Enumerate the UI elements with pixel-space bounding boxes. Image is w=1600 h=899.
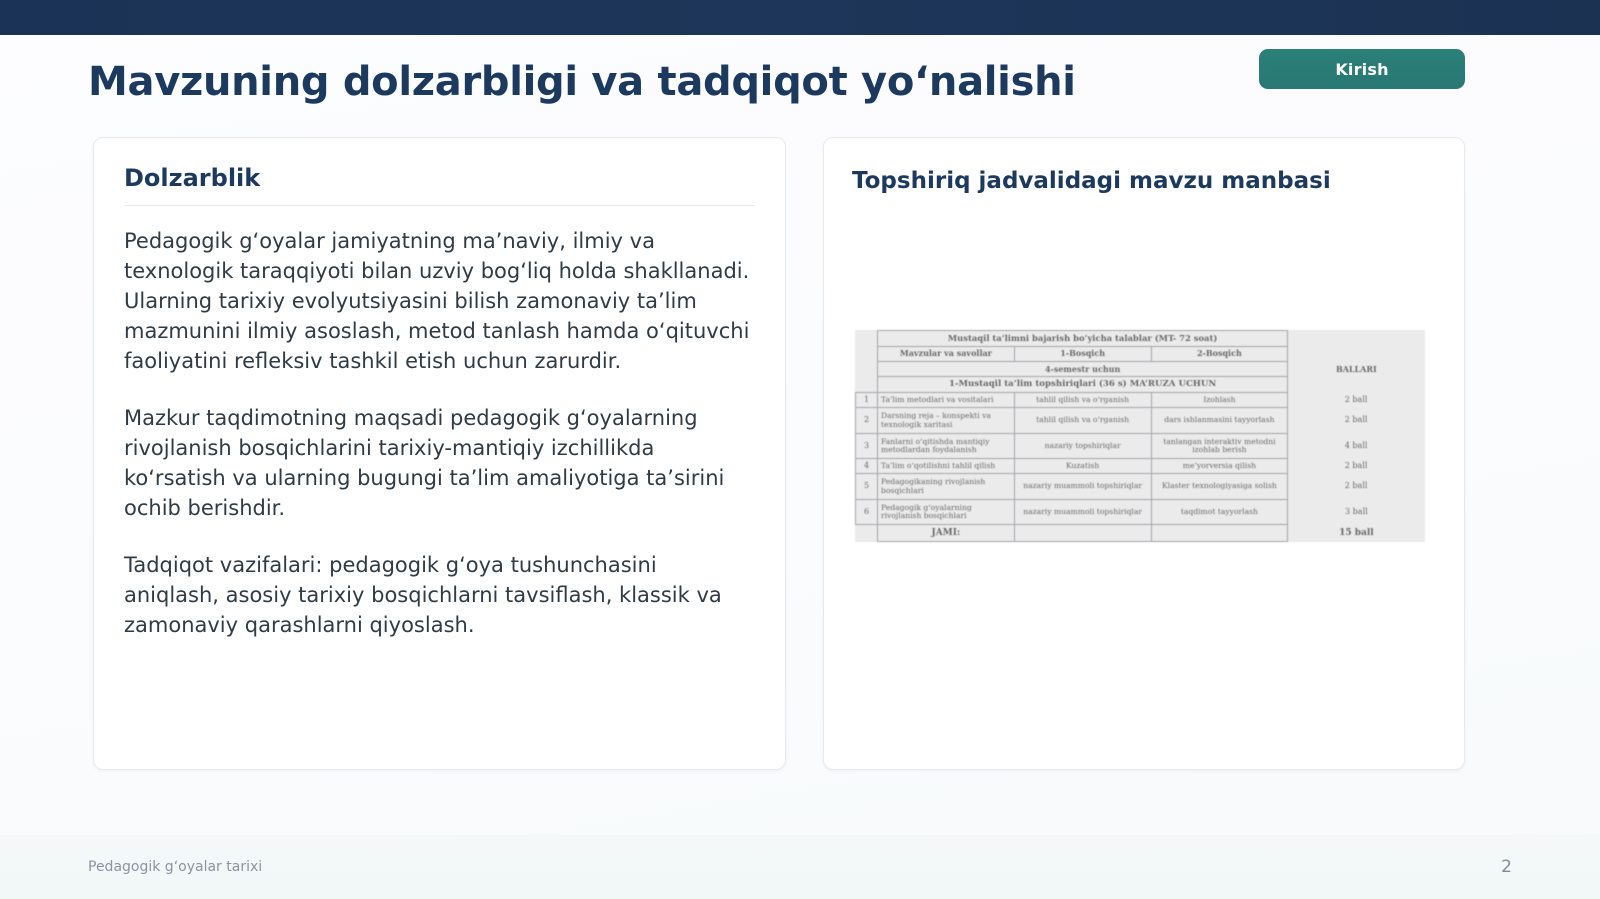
- card-left-title: Dolzarblik: [124, 164, 755, 206]
- table-row: 3 Fanlarni o‘qitishda mantiqiy metodlard…: [856, 433, 1425, 458]
- table-row: 1 Ta’lim metodlari va vositalari tahlil …: [856, 393, 1425, 408]
- row-topic: Pedagogikaning rivojlanish bosqichlari: [878, 474, 1015, 499]
- table-main-header: Mustaqil ta’limni bajarish bo‘yicha tala…: [878, 331, 1288, 347]
- table-row-main-header: Mustaqil ta’limni bajarish bo‘yicha tala…: [856, 331, 1425, 347]
- paragraph-2: Mazkur taqdimotning maqsadi pedagogik g‘…: [124, 403, 755, 523]
- row-topic: Darsning reja – konspekti va texnologik …: [878, 408, 1015, 433]
- row-stage2: Klaster texnologiyasiga solish: [1151, 474, 1288, 499]
- col-header-ball: BALLARI: [1288, 361, 1425, 376]
- table-row: 2 Darsning reja – konspekti va texnologi…: [856, 408, 1425, 433]
- table-row: 4 Ta’lim o‘qotilishni tahlil qilish Kuza…: [856, 459, 1425, 474]
- row-stage1: Kuzatish: [1014, 459, 1151, 474]
- row-ball: 2 ball: [1288, 393, 1425, 408]
- table-row-total: JAMI: 15 ball: [856, 525, 1425, 542]
- col-header-stage2: 2-Bosqich: [1151, 346, 1288, 361]
- col-header-stage1: 1-Bosqich: [1014, 346, 1151, 361]
- row-stage2: dars ishlanmasini tayyorlash: [1151, 408, 1288, 433]
- row-stage1: tahlil qilish va o‘rganish: [1014, 393, 1151, 408]
- row-number: 2: [856, 408, 878, 433]
- row-topic: Ta’lim metodlari va vositalari: [878, 393, 1015, 408]
- paragraph-3: Tadqiqot vazifalari: pedagogik g‘oya tus…: [124, 550, 755, 640]
- table-row: 6 Pedagogik g‘oyalarning rivojlanish bos…: [856, 499, 1425, 524]
- total-spacer-2: [1151, 525, 1288, 542]
- card-right-title: Topshiriq jadvalidagi mavzu manbasi: [852, 168, 1436, 194]
- semester-row: 4-semestr uchun: [878, 361, 1288, 376]
- table-row-col-headers: Mavzular va savollar 1-Bosqich 2-Bosqich: [856, 346, 1425, 361]
- slide-header: Mavzuning dolzarbligi va tadqiqot yo‘nal…: [0, 35, 1600, 130]
- row-ball: 4 ball: [1288, 433, 1425, 458]
- row-number: 6: [856, 499, 878, 524]
- col-header-topic: Mavzular va savollar: [878, 346, 1015, 361]
- row-topic: Pedagogik g‘oyalarning rivojlanish bosqi…: [878, 499, 1015, 524]
- spacer-cell: [856, 331, 878, 347]
- spacer-cell: [1288, 331, 1425, 347]
- slide-footer: Pedagogik g‘oyalar tarixi 2: [0, 835, 1600, 899]
- card-dolzarblik: Dolzarblik Pedagogik g‘oyalar jamiyatnin…: [93, 137, 786, 770]
- spacer-cell: [856, 377, 878, 393]
- total-spacer-1: [1014, 525, 1151, 542]
- page-number: 2: [1501, 857, 1512, 877]
- assignment-table: Mustaqil ta’limni bajarish bo‘yicha tala…: [855, 330, 1425, 542]
- top-accent-bar: [0, 0, 1600, 35]
- scanned-table-image: Mustaqil ta’limni bajarish bo‘yicha tala…: [855, 330, 1425, 542]
- card-left-body: Pedagogik g‘oyalar jamiyatning ma’naviy,…: [124, 226, 755, 640]
- row-ball: 2 ball: [1288, 474, 1425, 499]
- row-stage2: taqdimot tayyorlash: [1151, 499, 1288, 524]
- row-stage1: nazariy topshiriqlar: [1014, 433, 1151, 458]
- section-row: 1-Mustaqil ta’lim topshiriqlari (36 s) M…: [878, 377, 1288, 393]
- row-number: 4: [856, 459, 878, 474]
- spacer-cell: [856, 346, 878, 361]
- row-number: 3: [856, 433, 878, 458]
- row-ball: 3 ball: [1288, 499, 1425, 524]
- spacer-cell: [856, 525, 878, 542]
- table-row-semester: 4-semestr uchun BALLARI: [856, 361, 1425, 376]
- row-ball: 2 ball: [1288, 408, 1425, 433]
- table-row: 5 Pedagogikaning rivojlanish bosqichlari…: [856, 474, 1425, 499]
- table-row-section: 1-Mustaqil ta’lim topshiriqlari (36 s) M…: [856, 377, 1425, 393]
- row-stage1: nazariy muammoli topshiriqlar: [1014, 474, 1151, 499]
- paragraph-1: Pedagogik g‘oyalar jamiyatning ma’naviy,…: [124, 226, 755, 376]
- spacer-cell: [1288, 346, 1425, 361]
- row-ball: 2 ball: [1288, 459, 1425, 474]
- page-title: Mavzuning dolzarbligi va tadqiqot yo‘nal…: [88, 59, 1076, 105]
- total-value: 15 ball: [1288, 525, 1425, 542]
- spacer-cell: [1288, 377, 1425, 393]
- row-number: 1: [856, 393, 878, 408]
- section-badge-kirish[interactable]: Kirish: [1259, 49, 1465, 89]
- row-number: 5: [856, 474, 878, 499]
- row-stage2: Izohlash: [1151, 393, 1288, 408]
- row-stage1: nazariy muammoli topshiriqlar: [1014, 499, 1151, 524]
- row-topic: Ta’lim o‘qotilishni tahlil qilish: [878, 459, 1015, 474]
- total-label: JAMI:: [878, 525, 1015, 542]
- row-stage1: tahlil qilish va o‘rganish: [1014, 408, 1151, 433]
- row-stage2: tanlangan interaktiv metodni izohlab ber…: [1151, 433, 1288, 458]
- spacer-cell: [856, 361, 878, 376]
- footer-label: Pedagogik g‘oyalar tarixi: [88, 859, 262, 875]
- row-topic: Fanlarni o‘qitishda mantiqiy metodlardan…: [878, 433, 1015, 458]
- row-stage2: me’yorversia qilish: [1151, 459, 1288, 474]
